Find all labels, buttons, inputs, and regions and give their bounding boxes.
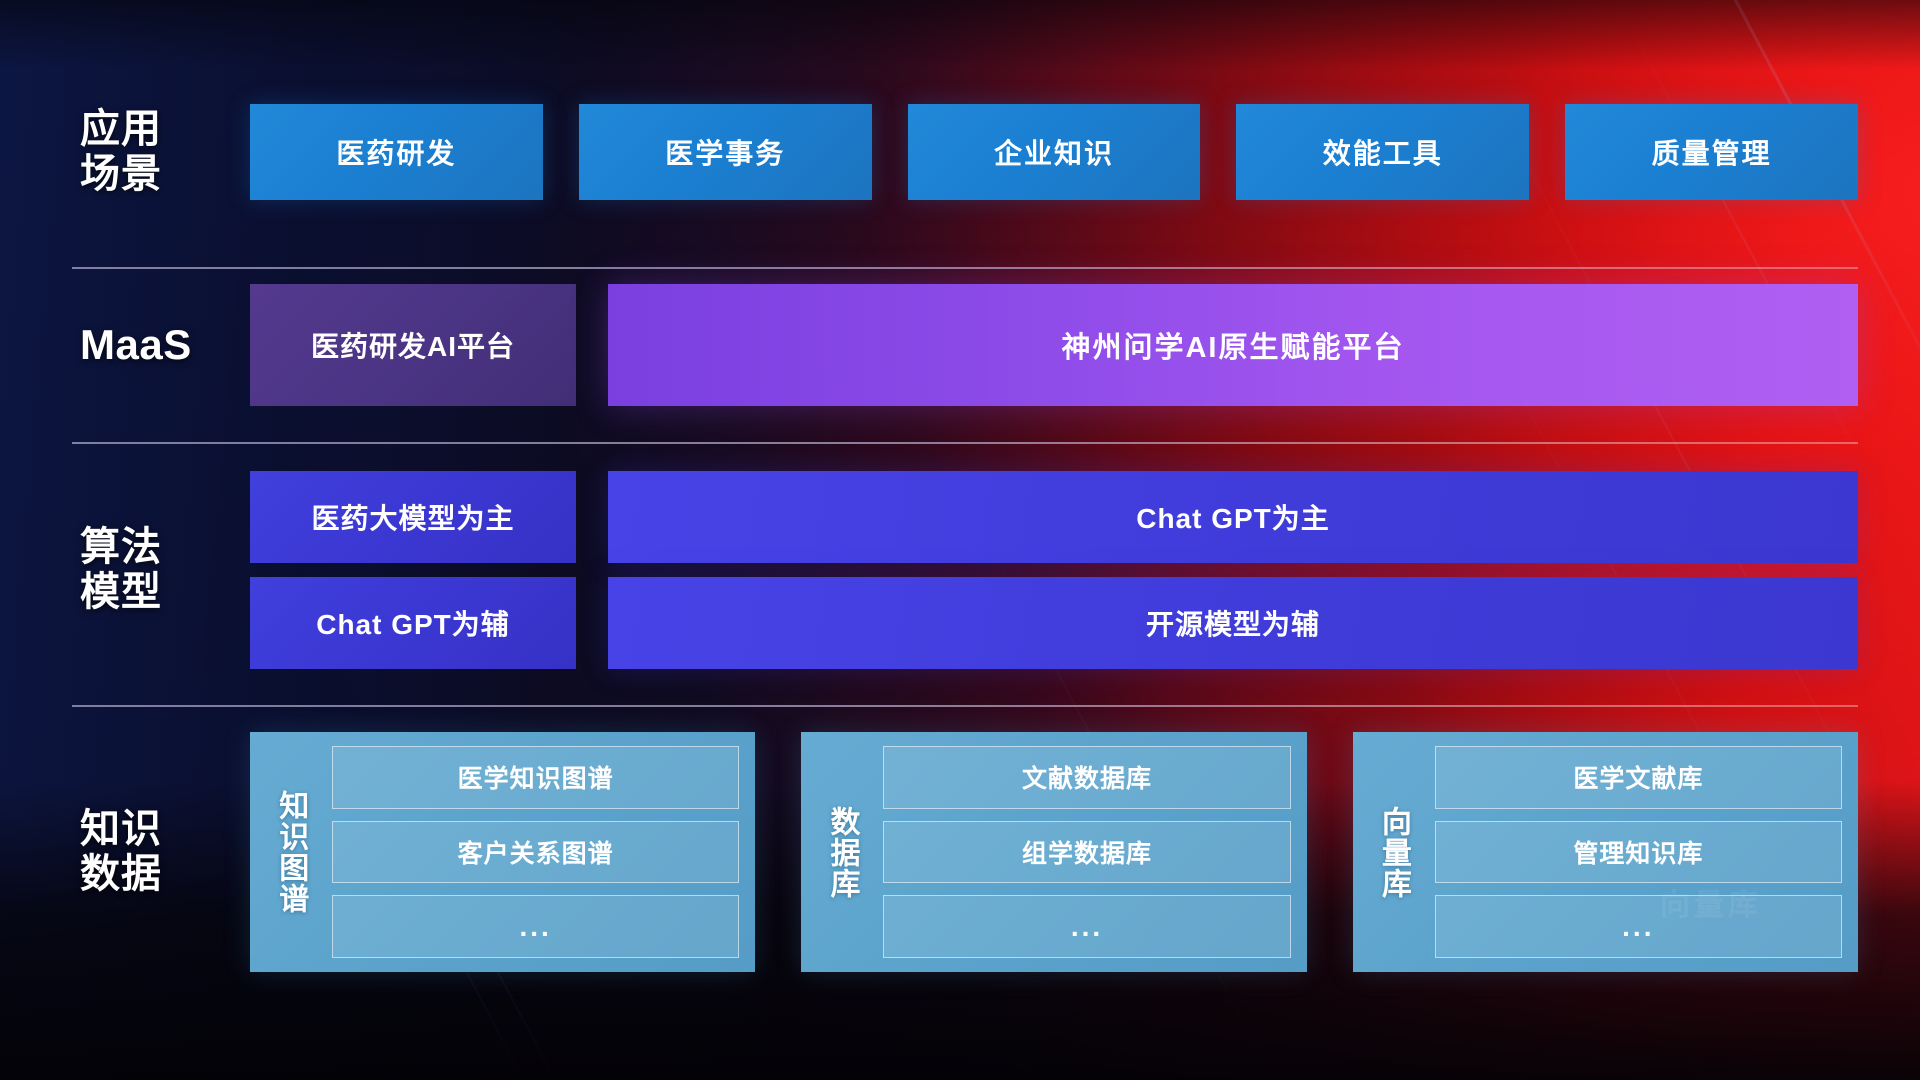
application-box-efficiency-tools[interactable]: 效能工具 bbox=[1236, 104, 1529, 200]
algorithm-line-primary: 医药大模型为主 Chat GPT为主 bbox=[250, 471, 1858, 563]
row-algorithm-models: 算法 模型 医药大模型为主 Chat GPT为主 Chat GPT为辅 开源模型… bbox=[0, 470, 1920, 670]
knowledge-item-medical-knowledge-graph[interactable]: 医学知识图谱 bbox=[332, 746, 739, 809]
maas-box-track: 医药研发AI平台 神州问学AI原生赋能平台 bbox=[250, 284, 1858, 406]
background-top-shade bbox=[0, 0, 1920, 70]
row-knowledge-data: 知识 数据 知识图谱 医学知识图谱 客户关系图谱 ... 数据库 文献数据库 组… bbox=[0, 732, 1920, 972]
algorithm-box-track: 医药大模型为主 Chat GPT为主 Chat GPT为辅 开源模型为辅 bbox=[250, 471, 1858, 669]
knowledge-panel-vertical-label: 知识图谱 bbox=[262, 746, 318, 958]
knowledge-panel-knowledge-graph[interactable]: 知识图谱 医学知识图谱 客户关系图谱 ... bbox=[250, 732, 755, 972]
maas-box-medicine-rd-ai-platform[interactable]: 医药研发AI平台 bbox=[250, 284, 576, 406]
algorithm-box-chatgpt-secondary[interactable]: Chat GPT为辅 bbox=[250, 577, 576, 669]
row-separator-1 bbox=[72, 267, 1858, 269]
knowledge-panel-vector-store[interactable]: 向量库 医学文献库 管理知识库 ... bbox=[1353, 732, 1858, 972]
row-separator-3 bbox=[72, 705, 1858, 707]
knowledge-item-more[interactable]: ... bbox=[883, 895, 1290, 958]
application-box-quality-management[interactable]: 质量管理 bbox=[1565, 104, 1858, 200]
knowledge-item-list: 文献数据库 组学数据库 ... bbox=[883, 746, 1290, 958]
row-label-knowledge-data: 知识 数据 bbox=[80, 807, 228, 897]
diagram-canvas: 应用 场景 医药研发 医学事务 企业知识 效能工具 质量管理 MaaS 医药研发… bbox=[0, 0, 1920, 1080]
knowledge-item-medical-literature-store[interactable]: 医学文献库 bbox=[1435, 746, 1842, 809]
application-box-enterprise-knowledge[interactable]: 企业知识 bbox=[908, 104, 1201, 200]
knowledge-panel-track: 知识图谱 医学知识图谱 客户关系图谱 ... 数据库 文献数据库 组学数据库 .… bbox=[250, 732, 1858, 972]
algorithm-box-opensource-secondary[interactable]: 开源模型为辅 bbox=[608, 577, 1858, 669]
row-maas: MaaS 医药研发AI平台 神州问学AI原生赋能平台 bbox=[0, 290, 1920, 400]
knowledge-item-management-knowledge-store[interactable]: 管理知识库 bbox=[1435, 821, 1842, 884]
knowledge-item-more[interactable]: ... bbox=[1435, 895, 1842, 958]
algorithm-line-secondary: Chat GPT为辅 开源模型为辅 bbox=[250, 577, 1858, 669]
row-separator-2 bbox=[72, 442, 1858, 444]
knowledge-panel-database[interactable]: 数据库 文献数据库 组学数据库 ... bbox=[801, 732, 1306, 972]
knowledge-item-list: 医学文献库 管理知识库 ... bbox=[1435, 746, 1842, 958]
row-label-algorithm-models: 算法 模型 bbox=[80, 525, 228, 615]
knowledge-item-omics-database[interactable]: 组学数据库 bbox=[883, 821, 1290, 884]
knowledge-item-more[interactable]: ... bbox=[332, 895, 739, 958]
row-label-applications: 应用 场景 bbox=[80, 107, 228, 197]
algorithm-box-medicine-llm-primary[interactable]: 医药大模型为主 bbox=[250, 471, 576, 563]
knowledge-panel-vertical-label: 数据库 bbox=[813, 746, 869, 958]
knowledge-item-literature-database[interactable]: 文献数据库 bbox=[883, 746, 1290, 809]
application-box-medical-affairs[interactable]: 医学事务 bbox=[579, 104, 872, 200]
row-applications: 应用 场景 医药研发 医学事务 企业知识 效能工具 质量管理 bbox=[0, 104, 1920, 200]
maas-box-shenzhou-wenxue-platform[interactable]: 神州问学AI原生赋能平台 bbox=[608, 284, 1858, 406]
application-box-medicine-rd[interactable]: 医药研发 bbox=[250, 104, 543, 200]
knowledge-item-customer-relation-graph[interactable]: 客户关系图谱 bbox=[332, 821, 739, 884]
algorithm-box-chatgpt-primary[interactable]: Chat GPT为主 bbox=[608, 471, 1858, 563]
row-label-maas: MaaS bbox=[80, 321, 228, 368]
knowledge-panel-vertical-label: 向量库 bbox=[1365, 746, 1421, 958]
knowledge-item-list: 医学知识图谱 客户关系图谱 ... bbox=[332, 746, 739, 958]
applications-box-track: 医药研发 医学事务 企业知识 效能工具 质量管理 bbox=[250, 104, 1858, 200]
